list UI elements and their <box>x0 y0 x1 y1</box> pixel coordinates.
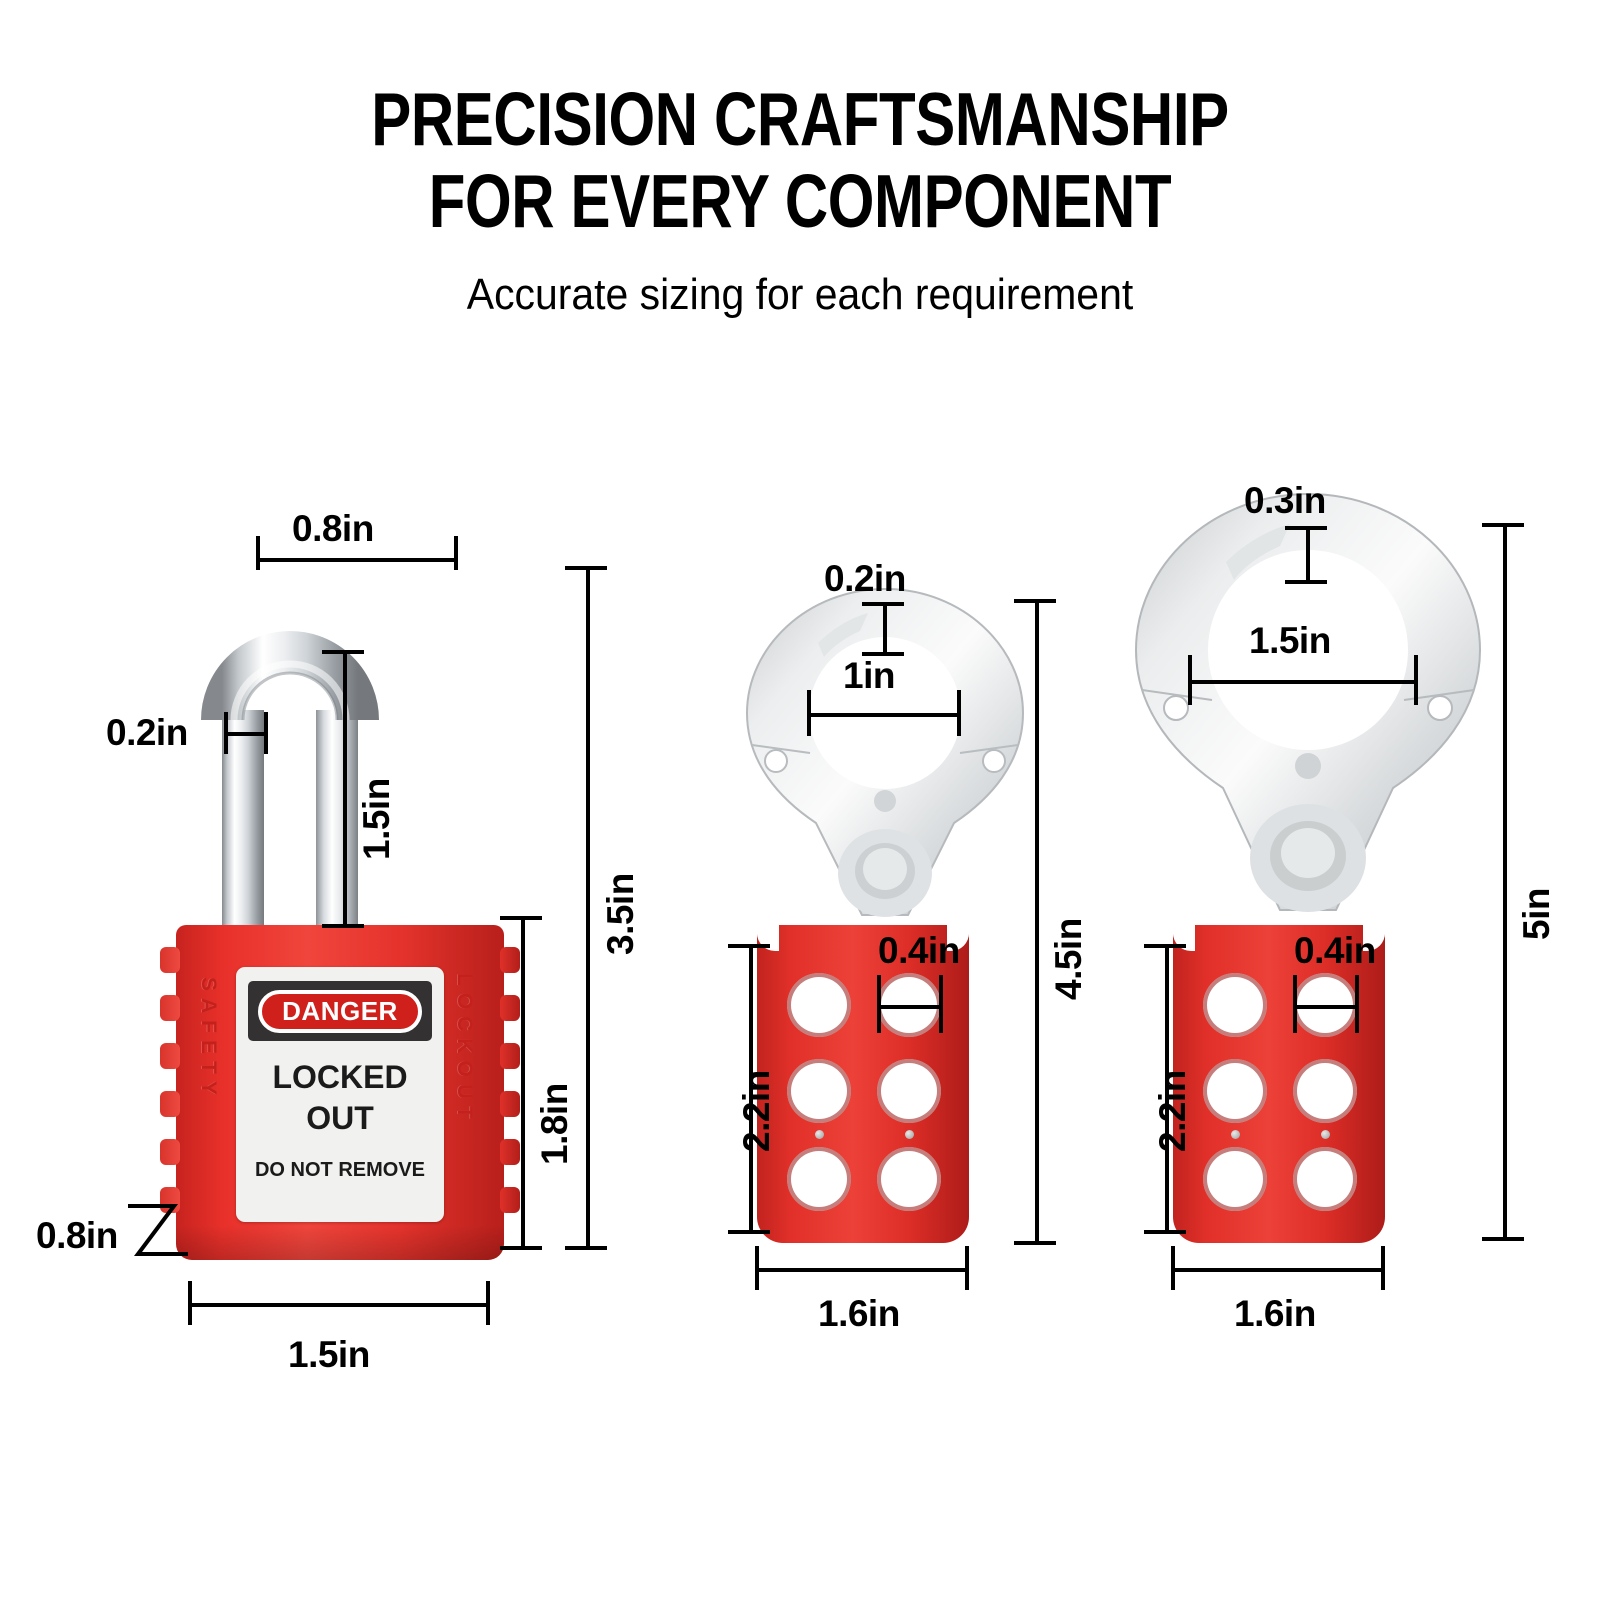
dimension-value-2-2in: 2.2in <box>1152 1070 1194 1152</box>
lock-hole <box>877 1059 941 1123</box>
dimension-tick <box>1355 975 1359 1033</box>
dimension-value-1-5in-width: 1.5in <box>288 1334 370 1376</box>
dimension-value-5in: 5in <box>1516 888 1558 940</box>
warning-label: DANGER LOCKED OUT DO NOT REMOVE <box>236 967 444 1222</box>
dimension-value-1-5in: 1.5in <box>1249 620 1331 662</box>
dimension-tick <box>1144 944 1186 948</box>
dimension-line <box>256 558 458 562</box>
label-line-out: OUT <box>236 1100 444 1137</box>
dimension-tick <box>1381 1246 1385 1290</box>
dimension-value-0-8in: 0.8in <box>292 508 374 550</box>
dimension-tick <box>256 536 260 570</box>
dimension-value-1-5in: 1.5in <box>356 778 398 860</box>
lock-hole <box>787 973 851 1037</box>
dimension-value-0-2in: 0.2in <box>824 558 906 600</box>
embossed-text-safety: SAFETY <box>196 977 220 1102</box>
dimension-tick <box>322 650 364 654</box>
dimension-value-4-5in: 4.5in <box>1048 918 1090 1000</box>
grip-ridge <box>500 995 520 1021</box>
dimension-tick <box>486 1281 490 1325</box>
dimension-value-0-2in: 0.2in <box>106 712 188 754</box>
lock-hole <box>1293 1147 1357 1211</box>
padlock-body: SAFETY LOCKOUT DANGER LOCKED OUT DO NOT … <box>160 925 520 1260</box>
dimension-line <box>1306 528 1310 584</box>
dimension-tick <box>264 712 268 754</box>
grip-ridge <box>160 995 180 1021</box>
dimension-line <box>586 566 590 1250</box>
lock-hole <box>787 1059 851 1123</box>
grip-ridge <box>500 1043 520 1069</box>
dimension-tick <box>500 916 542 920</box>
dimension-tick <box>1144 1230 1186 1234</box>
dimension-tick <box>877 975 881 1033</box>
dimension-value-0-4in: 0.4in <box>878 930 960 972</box>
dimension-tick <box>1014 1241 1056 1245</box>
lock-hole <box>1203 1147 1267 1211</box>
dimension-tick <box>965 1246 969 1290</box>
dimension-value-0-8in-depth: 0.8in <box>36 1215 118 1257</box>
lock-hole <box>1203 973 1267 1037</box>
dimension-value-1in: 1in <box>843 655 895 697</box>
lock-hole <box>1293 1059 1357 1123</box>
dimension-line <box>343 650 347 928</box>
dimension-line <box>1173 1268 1385 1272</box>
dimension-leader-line <box>128 1198 208 1268</box>
dimension-value-1-6in: 1.6in <box>1234 1293 1316 1335</box>
dimension-value-1-6in: 1.6in <box>818 1293 900 1335</box>
dimension-line <box>190 1303 490 1307</box>
grip-ridge <box>160 1091 180 1117</box>
hasp-red-body <box>1173 925 1385 1243</box>
dimension-tick <box>862 602 904 606</box>
dimension-tick <box>565 566 607 570</box>
rivet-dot <box>1321 1130 1330 1139</box>
dimension-tick <box>1014 599 1056 603</box>
grip-ridge <box>160 1043 180 1069</box>
danger-bar: DANGER <box>248 981 432 1041</box>
hasp-red-body <box>757 925 969 1243</box>
grip-ridge <box>500 1187 520 1213</box>
rivet-dot <box>905 1130 914 1139</box>
dimension-value-0-3in: 0.3in <box>1244 480 1326 522</box>
padlock-body-bevel <box>176 1225 504 1260</box>
dimension-line <box>226 732 268 736</box>
dimension-tick <box>454 536 458 570</box>
dimension-tick <box>728 1230 770 1234</box>
lock-hole <box>787 1147 851 1211</box>
dimension-tick <box>939 975 943 1033</box>
product-diagram-stage: SAFETY LOCKOUT DANGER LOCKED OUT DO NOT … <box>0 0 1600 1600</box>
dimension-tick <box>322 924 364 928</box>
rivet-dot <box>1231 1130 1240 1139</box>
grip-ridge <box>160 947 180 973</box>
label-line-locked: LOCKED <box>236 1059 444 1096</box>
dimension-tick <box>807 690 811 736</box>
embossed-text-lockout: LOCKOUT <box>452 973 476 1126</box>
dimension-tick <box>565 1246 607 1250</box>
dimension-tick <box>1285 526 1327 530</box>
rivet-dot <box>815 1130 824 1139</box>
dimension-line <box>757 1268 969 1272</box>
grip-ridge <box>500 947 520 973</box>
dimension-line <box>809 713 961 717</box>
dimension-tick <box>755 1246 759 1290</box>
dimension-tick <box>1188 655 1192 705</box>
shackle-icon <box>160 560 420 940</box>
padlock-artwork: SAFETY LOCKOUT DANGER LOCKED OUT DO NOT … <box>160 560 520 1260</box>
grip-ridge <box>160 1139 180 1165</box>
dimension-tick <box>1414 655 1418 705</box>
dimension-tick <box>224 712 228 754</box>
dimension-line <box>1503 523 1507 1241</box>
dimension-tick <box>1171 1246 1175 1290</box>
dimension-line <box>1295 1005 1359 1009</box>
dimension-line <box>879 1005 943 1009</box>
dimension-tick <box>188 1281 192 1325</box>
dimension-line <box>521 916 525 1250</box>
dimension-tick <box>500 1246 542 1250</box>
dimension-value-1-8in: 1.8in <box>534 1083 576 1165</box>
dimension-line <box>883 604 887 656</box>
dimension-tick <box>1293 975 1297 1033</box>
dimension-tick <box>957 690 961 736</box>
dimension-value-3-5in: 3.5in <box>600 873 642 955</box>
dimension-line <box>1035 599 1039 1245</box>
grip-ridge <box>500 1139 520 1165</box>
dimension-value-2-2in: 2.2in <box>736 1070 778 1152</box>
dimension-value-0-4in: 0.4in <box>1294 930 1376 972</box>
dimension-tick <box>1482 523 1524 527</box>
dimension-tick <box>1482 1237 1524 1241</box>
dimension-tick <box>1285 580 1327 584</box>
lock-hole <box>1203 1059 1267 1123</box>
label-line-do-not-remove: DO NOT REMOVE <box>236 1159 444 1182</box>
dimension-tick <box>728 944 770 948</box>
danger-badge: DANGER <box>258 990 422 1033</box>
grip-ridge <box>500 1091 520 1117</box>
lock-hole <box>877 1147 941 1211</box>
dimension-line <box>1190 680 1418 684</box>
